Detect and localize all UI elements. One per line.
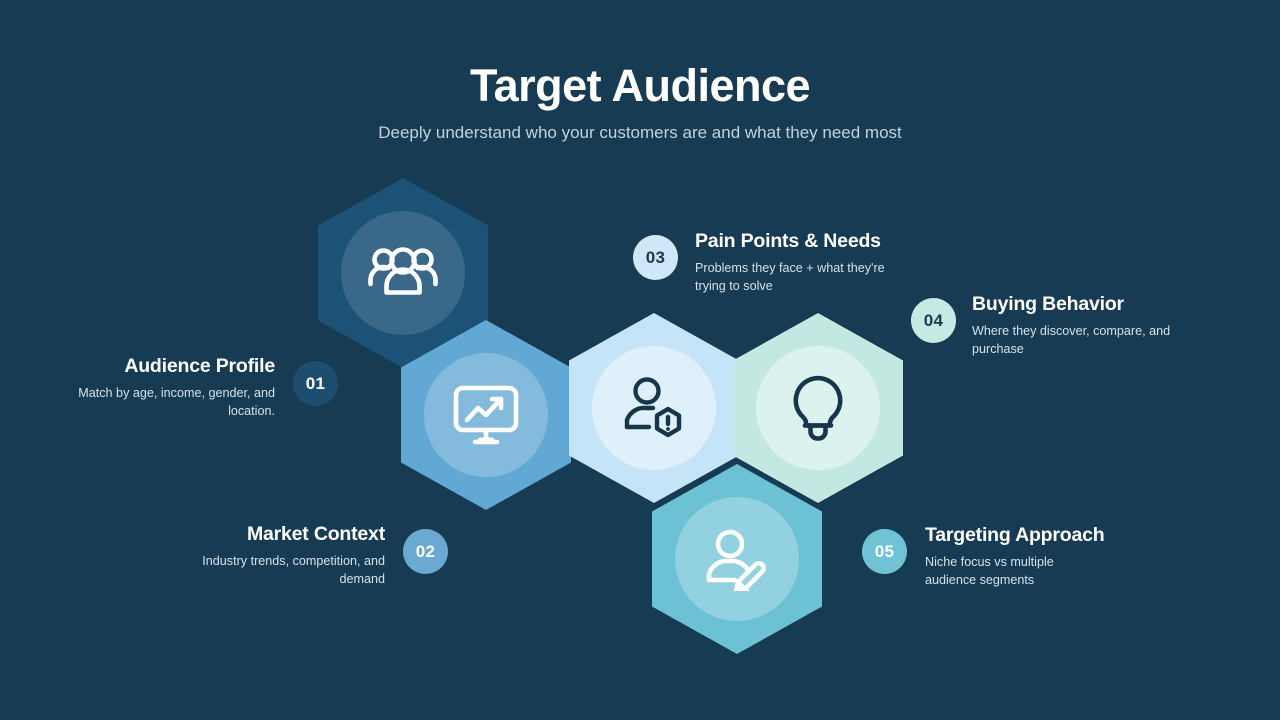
person-edit-icon — [703, 527, 771, 591]
label-05-targeting-approach: Targeting Approach Niche focus vs multip… — [925, 521, 1105, 590]
hexagon-4-icon-circle — [756, 346, 880, 470]
label-02-market-context: Market Context Industry trends, competit… — [185, 520, 385, 589]
label-03-title: Pain Points & Needs — [695, 227, 900, 255]
label-03-desc: Problems they face + what they're trying… — [695, 260, 900, 296]
hexagon-3-icon-circle — [592, 346, 716, 470]
hexagon-5-targeting-approach[interactable] — [652, 464, 822, 654]
label-01-audience-profile: Audience Profile Match by age, income, g… — [75, 352, 275, 421]
label-04-desc: Where they discover, compare, and purcha… — [972, 323, 1187, 359]
page-title: Target Audience — [0, 62, 1280, 111]
slide-canvas: Target Audience Deeply understand who yo… — [0, 0, 1280, 720]
badge-04[interactable]: 04 — [911, 298, 956, 343]
label-05-title: Targeting Approach — [925, 521, 1105, 549]
label-01-title: Audience Profile — [75, 352, 275, 380]
group-people-icon — [367, 242, 439, 304]
hexagon-1-icon-circle — [341, 211, 465, 335]
hexagon-5-icon-circle — [675, 497, 799, 621]
badge-02[interactable]: 02 — [403, 529, 448, 574]
label-04-title: Buying Behavior — [972, 290, 1187, 318]
label-01-desc: Match by age, income, gender, and locati… — [75, 385, 275, 421]
badge-01[interactable]: 01 — [293, 361, 338, 406]
hexagon-3-pain-points[interactable] — [569, 313, 739, 503]
label-03-pain-points: Pain Points & Needs Problems they face +… — [695, 227, 900, 296]
label-02-desc: Industry trends, competition, and demand — [185, 553, 385, 589]
label-05-desc: Niche focus vs multiple audience segment… — [925, 554, 1105, 590]
lightbulb-icon — [788, 374, 848, 442]
hexagon-2-icon-circle — [424, 353, 548, 477]
label-02-title: Market Context — [185, 520, 385, 548]
header: Target Audience Deeply understand who yo… — [0, 62, 1280, 143]
label-04-buying-behavior: Buying Behavior Where they discover, com… — [972, 290, 1187, 359]
monitor-chart-icon — [453, 384, 519, 446]
badge-03[interactable]: 03 — [633, 235, 678, 280]
hexagon-4-buying-behavior[interactable] — [733, 313, 903, 503]
page-subtitle: Deeply understand who your customers are… — [0, 123, 1280, 143]
badge-05[interactable]: 05 — [862, 529, 907, 574]
person-alert-icon — [621, 375, 687, 441]
